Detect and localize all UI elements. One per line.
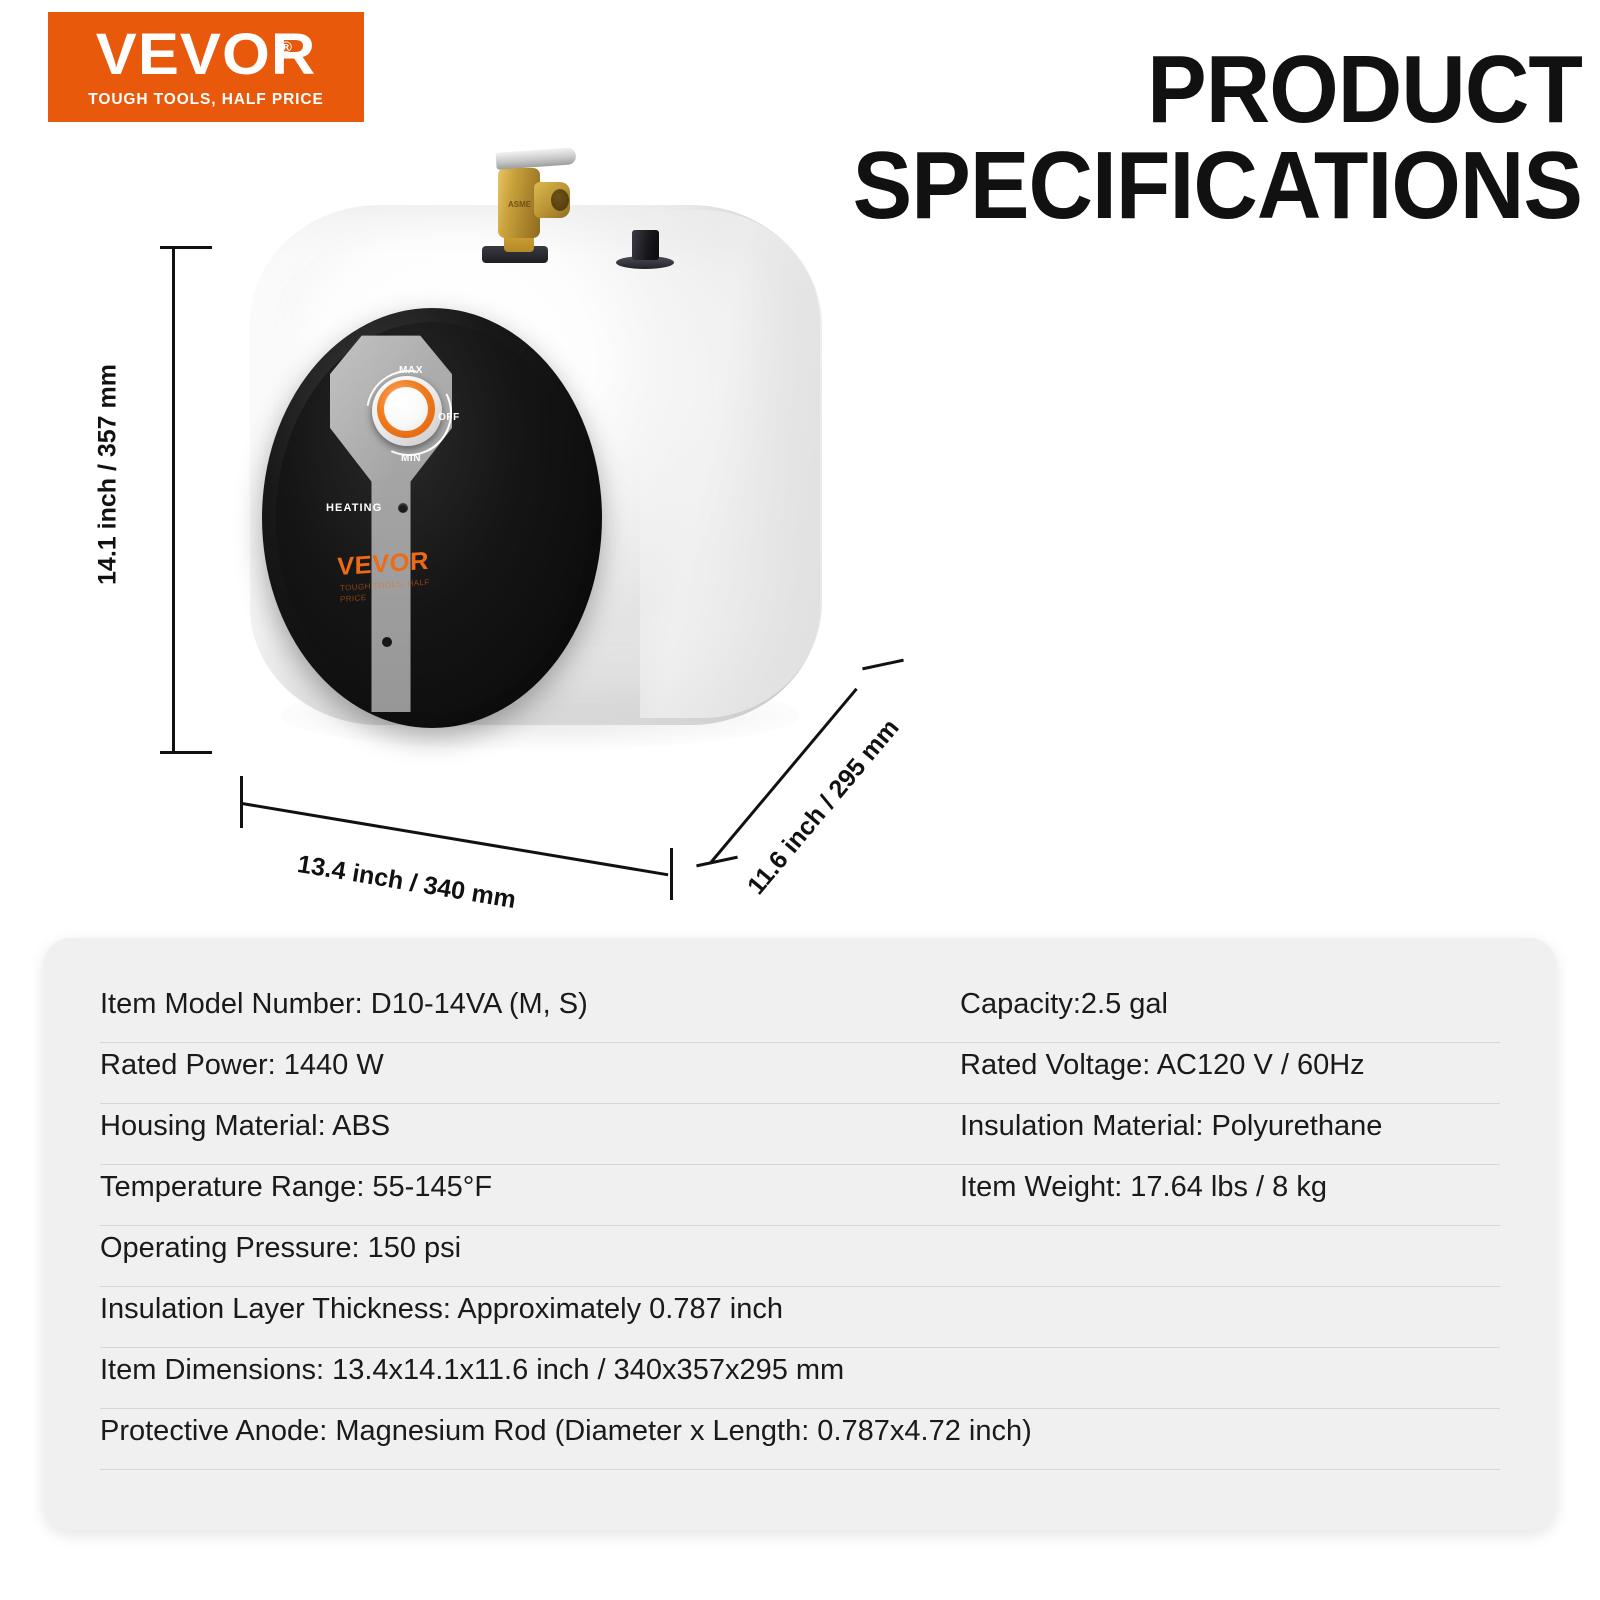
spec-label-item-weight: Item Weight: 17.64 lbs / 8 kg bbox=[960, 1165, 1500, 1209]
spec-label-operating-pressure: Operating Pressure: 150 psi bbox=[100, 1226, 960, 1270]
heating-indicator-led bbox=[398, 503, 408, 513]
top-inlet-port bbox=[632, 230, 659, 260]
table-row: Housing Material: ABS Insulation Materia… bbox=[100, 1104, 1500, 1165]
spec-label-item-dimensions: Item Dimensions: 13.4x14.1x11.6 inch / 3… bbox=[100, 1348, 960, 1392]
valve-marking: ASME bbox=[508, 200, 531, 209]
spec-label-capacity: Capacity:2.5 gal bbox=[960, 982, 1500, 1026]
heating-indicator-label: HEATING bbox=[326, 502, 382, 514]
spec-label-rated-voltage: Rated Voltage: AC120 V / 60Hz bbox=[960, 1043, 1500, 1087]
depth-dimension-tick-far bbox=[862, 659, 904, 671]
height-dimension-line bbox=[172, 248, 175, 754]
spec-label-insulation-material: Insulation Material: Polyurethane bbox=[960, 1104, 1500, 1148]
table-row: Insulation Layer Thickness: Approximatel… bbox=[100, 1287, 1500, 1348]
height-dimension-tick-bottom bbox=[160, 751, 212, 754]
temperature-knob-cap[interactable] bbox=[384, 387, 428, 431]
knob-label-off: OFF bbox=[438, 412, 460, 423]
product-photo: ASME MAX OFF MIN HEATING VEVOR TOUGH TOO… bbox=[0, 60, 1060, 940]
table-row: Item Dimensions: 13.4x14.1x11.6 inch / 3… bbox=[100, 1348, 1500, 1409]
width-dimension-tick-right bbox=[670, 848, 673, 900]
spec-label-protective-anode: Protective Anode: Magnesium Rod (Diamete… bbox=[100, 1409, 960, 1453]
width-dimension-label: 13.4 inch / 340 mm bbox=[295, 850, 518, 915]
valve-lever-handle bbox=[496, 147, 577, 170]
spec-label-housing-material: Housing Material: ABS bbox=[100, 1104, 960, 1148]
product-specification-page: VEVOR ® TOUGH TOOLS, HALF PRICE PRODUCT … bbox=[0, 0, 1600, 1600]
specifications-panel: Item Model Number: D10-14VA (M, S) Capac… bbox=[44, 938, 1556, 1530]
spec-label-insulation-thickness: Insulation Layer Thickness: Approximatel… bbox=[100, 1287, 960, 1331]
product-brand-label: VEVOR bbox=[337, 549, 429, 580]
table-row: Temperature Range: 55-145°F Item Weight:… bbox=[100, 1165, 1500, 1226]
registered-trademark-icon: ® bbox=[280, 40, 293, 55]
knob-label-min: MIN bbox=[401, 453, 421, 464]
table-row: Operating Pressure: 150 psi bbox=[100, 1226, 1500, 1287]
spec-label-rated-power: Rated Power: 1440 W bbox=[100, 1043, 960, 1087]
valve-outlet-hole bbox=[551, 189, 569, 211]
table-row: Protective Anode: Magnesium Rod (Diamete… bbox=[100, 1409, 1500, 1470]
spec-label-temperature-range: Temperature Range: 55-145°F bbox=[100, 1165, 960, 1209]
height-dimension-tick-top bbox=[160, 246, 212, 249]
depth-dimension-label: 11.6 inch / 295 mm bbox=[742, 714, 905, 901]
panel-reset-button[interactable] bbox=[382, 637, 392, 647]
spec-label-model-number: Item Model Number: D10-14VA (M, S) bbox=[100, 982, 960, 1026]
table-row: Item Model Number: D10-14VA (M, S) Capac… bbox=[100, 982, 1500, 1043]
table-row: Rated Power: 1440 W Rated Voltage: AC120… bbox=[100, 1043, 1500, 1104]
height-dimension-label: 14.1 inch / 357 mm bbox=[94, 315, 123, 635]
width-dimension-tick-left bbox=[240, 776, 243, 828]
knob-label-max: MAX bbox=[399, 365, 423, 376]
tank-side-shading bbox=[640, 210, 822, 718]
